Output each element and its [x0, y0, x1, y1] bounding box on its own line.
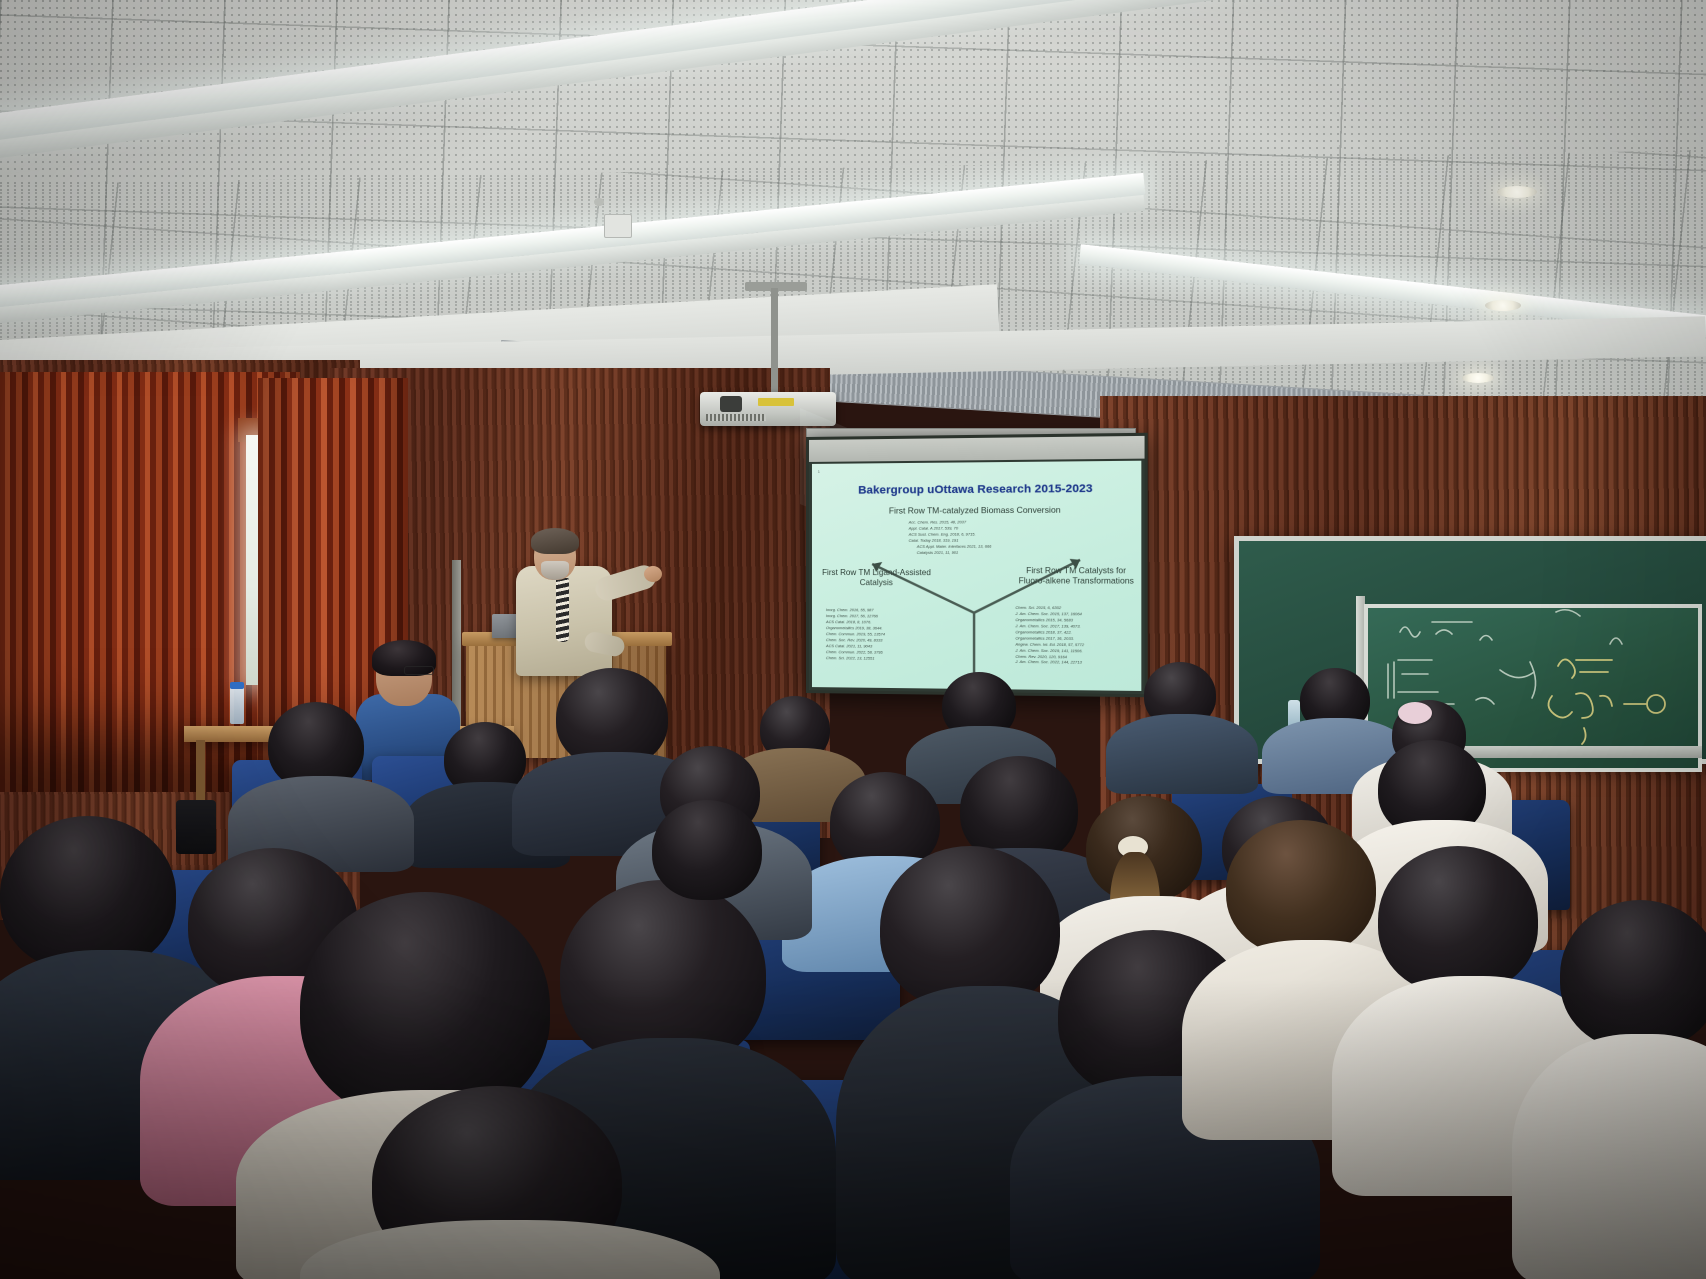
audience-head	[1226, 820, 1376, 956]
seat-armrest	[176, 800, 216, 854]
lecture-hall-photo: 1 Bakergroup uOttawa Research 2015-2023 …	[0, 0, 1706, 1279]
recessed-downlight-6	[1462, 373, 1494, 383]
recessed-downlight-4	[1497, 186, 1537, 198]
citation-line: J. Am. Chem. Soc. 2022, 144, 22713	[1015, 659, 1141, 666]
screen-blank-band	[809, 436, 1145, 462]
slide-number: 1	[818, 470, 820, 474]
projector-mount-pole	[771, 288, 778, 398]
projector-warning-label	[758, 398, 794, 406]
hair-scrunchie	[1398, 702, 1432, 724]
speaker-hair	[531, 528, 579, 554]
audience-head-foreground	[0, 816, 176, 972]
slide-left-branch-citations: Inorg. Chem. 2016, 55, 987 Inorg. Chem. …	[826, 607, 954, 662]
recessed-downlight-5	[1485, 300, 1521, 311]
water-bottle-cap	[230, 682, 244, 689]
presentation-slide: 1 Bakergroup uOttawa Research 2015-2023 …	[812, 461, 1141, 691]
citation-line: Catalysts 2021, 11, 901	[909, 549, 1064, 555]
slide-top-citations: Acc. Chem. Res. 2015, 48, 2037 Appl. Cat…	[909, 519, 1064, 556]
sprinkler-head	[594, 198, 604, 206]
projector-vent-grille	[706, 414, 766, 421]
projection-screen: 1 Bakergroup uOttawa Research 2015-2023 …	[806, 433, 1148, 698]
slide-title: Bakergroup uOttawa Research 2015-2023	[812, 482, 1141, 497]
slide-subtitle: First Row TM-catalyzed Biomass Conversio…	[812, 504, 1141, 516]
ceiling-speaker-icon	[604, 214, 632, 238]
citation-line: Chem. Sci. 2022, 13, 12551	[826, 655, 954, 662]
slide-left-branch-heading: First Row TM Ligand-Assisted Catalysis	[818, 568, 935, 589]
slide-right-branch-heading: First Row TM Catalysts for Fluoro-alkene…	[1013, 566, 1139, 587]
water-bottle-table	[230, 686, 244, 724]
slide-right-branch-citations: Chem. Sci. 2015, 6, 6302 J. Am. Chem. So…	[1015, 605, 1141, 667]
moderator-glasses-icon	[404, 666, 434, 675]
audience-head	[1378, 846, 1538, 994]
speaker-hand	[644, 566, 662, 582]
projector-lens-icon	[720, 396, 742, 412]
speaker-beard	[541, 561, 569, 580]
audience-head	[652, 800, 762, 900]
audience-head	[1560, 900, 1706, 1050]
audience-shoulders	[1106, 714, 1258, 794]
speaker-necktie	[556, 578, 569, 642]
